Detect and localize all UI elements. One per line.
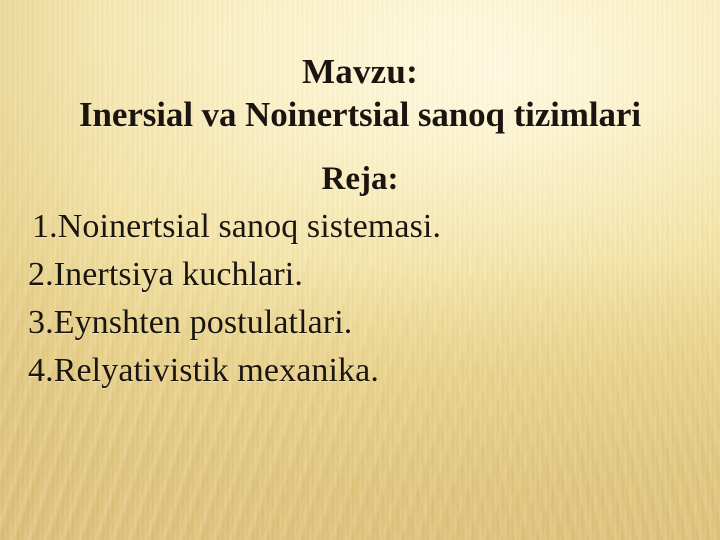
outline-list: 1.Noinertsial sanoq sistemasi. 2.Inertsi… — [28, 203, 698, 395]
list-item: 3.Eynshten postulatlari. — [28, 299, 698, 347]
list-item: 4.Relyativistik mexanika. — [28, 347, 698, 395]
slide-content: Mavzu: Inersial va Noinertsial sanoq tiz… — [0, 0, 720, 540]
presentation-slide: Mavzu: Inersial va Noinertsial sanoq tiz… — [0, 0, 720, 540]
list-item: 1.Noinertsial sanoq sistemasi. — [28, 203, 698, 251]
title-line-topic-label: Mavzu: — [0, 53, 720, 90]
outline-heading: Reja: — [0, 161, 720, 197]
title-line-topic-text: Inersial va Noinertsial sanoq tizimlari — [0, 96, 720, 133]
slide-title: Mavzu: Inersial va Noinertsial sanoq tiz… — [0, 53, 720, 133]
list-item: 2.Inertsiya kuchlari. — [28, 251, 698, 299]
